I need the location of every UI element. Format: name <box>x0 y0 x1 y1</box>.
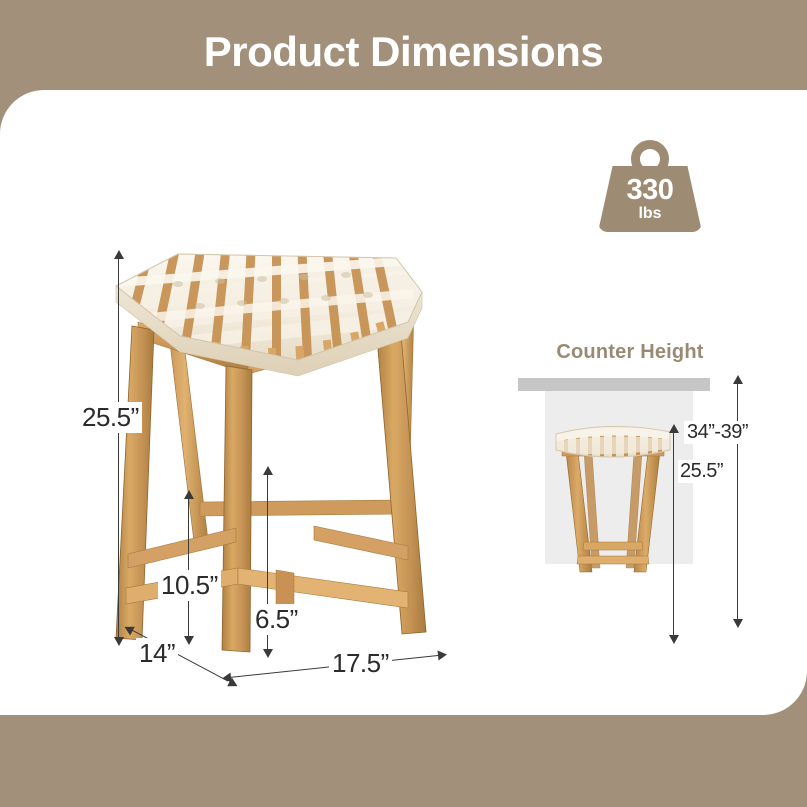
dim-arrow-width-start <box>222 673 232 684</box>
counter-height-title: Counter Height <box>505 341 755 364</box>
dim-arrow-foot-rail-top <box>263 466 273 475</box>
dim-label-width: 17.5” <box>329 648 392 679</box>
dim-label-counter-height: 34”-39” <box>684 421 751 444</box>
dim-label-height: 25.5” <box>79 402 142 433</box>
dim-label-foot-rail: 6.5” <box>252 604 301 635</box>
dim-arrow-mini-top <box>669 424 679 433</box>
dim-line-height <box>118 258 119 644</box>
dim-label-lower-stretcher: 10.5” <box>158 570 221 601</box>
dim-line-mini-stool-height <box>673 432 674 642</box>
dim-arrow-foot-rail-bottom <box>263 649 273 658</box>
counter-top-surface <box>518 378 710 391</box>
weight-capacity-badge: 330 lbs <box>598 140 702 232</box>
dim-arrow-lower-stretcher-top <box>184 490 194 499</box>
dim-arrow-width-end <box>438 650 448 661</box>
dim-label-depth: 14” <box>136 638 178 669</box>
dim-line-counter-height <box>737 383 738 626</box>
stool-illustration-mini <box>548 418 678 580</box>
dim-arrow-height-top <box>114 250 124 259</box>
dim-arrow-counter-bottom <box>733 619 743 628</box>
dim-arrow-height-bottom <box>114 637 124 646</box>
weight-value: 330 <box>598 176 702 205</box>
dim-label-mini-stool-height: 25.5” <box>678 460 725 483</box>
page-title: Product Dimensions <box>0 28 807 76</box>
dim-arrow-lower-stretcher-bottom <box>184 636 194 645</box>
dim-arrow-counter-top <box>733 375 743 384</box>
weight-unit: lbs <box>598 206 702 222</box>
infographic-stage: Product Dimensions 330 lbs <box>0 0 807 807</box>
dim-arrow-mini-bottom <box>669 635 679 644</box>
